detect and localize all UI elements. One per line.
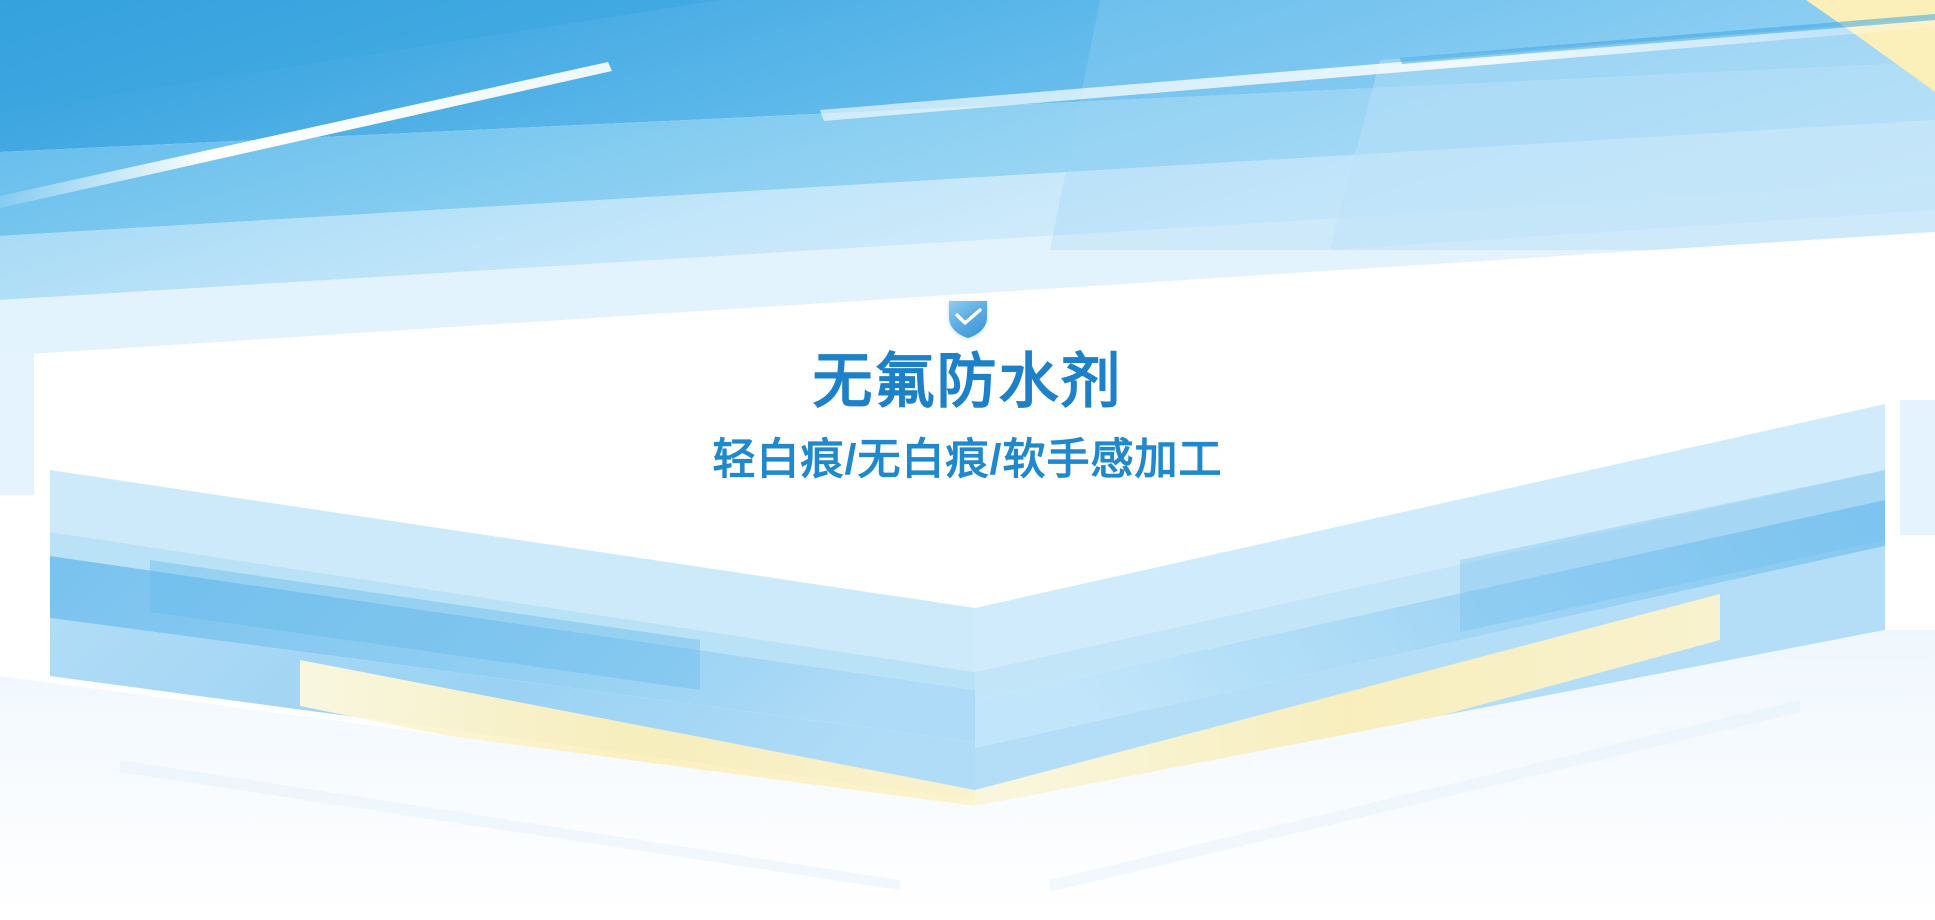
banner-content: 无氟防水剂 轻白痕/无白痕/软手感加工 — [0, 0, 1935, 920]
page-subtitle: 轻白痕/无白痕/软手感加工 — [713, 437, 1223, 484]
shield-check-icon — [945, 296, 991, 340]
page-title: 无氟防水剂 — [813, 350, 1123, 415]
product-banner: 无氟防水剂 轻白痕/无白痕/软手感加工 — [0, 0, 1935, 920]
shield-check-icon-svg — [945, 296, 991, 340]
